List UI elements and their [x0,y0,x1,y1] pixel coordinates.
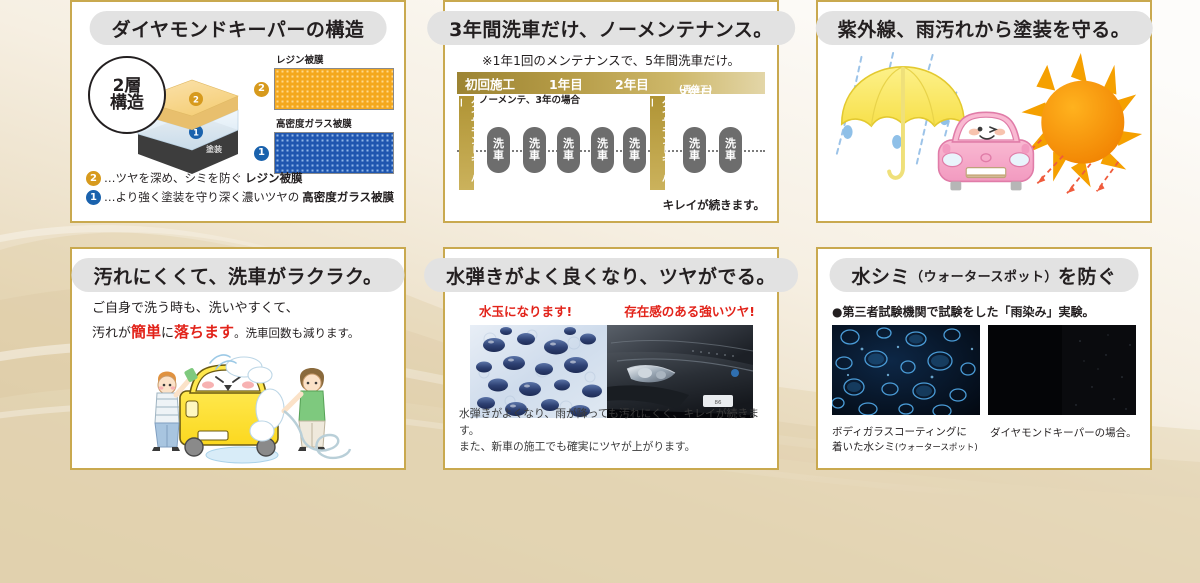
layer-diagram: 2層 構造 塗装 [86,54,246,179]
maintenance-subtitle: ※1年1回のメンテナンスで、5年間洗車だけ。 [445,50,777,69]
water-spot-photo-keeper [988,325,1136,415]
caption-keeper: ダイヤモンドキーパーの場合。 [990,426,1137,442]
water-repel-note-line-1: 水弾きがよくなり、雨が降っても汚れにくく、キレイが続きます。 [459,406,767,439]
water-repel-note: 水弾きがよくなり、雨が降っても汚れにくく、キレイが続きます。 また、新車の施工で… [459,406,767,456]
legend-bold-resin: レジン被膜 [245,169,303,188]
swatch-row-glass: 1 [254,132,400,174]
caption-coating-line-1: ボディガラスコーティングに [832,425,978,441]
photo-caption-beads: 水玉になります! [479,301,572,320]
wash-pill-3: 洗車 [557,127,580,173]
easy-wash-line-2: 汚れが簡単に落ちます。洗車回数も減ります。 [92,320,359,345]
highlight-kantan: 簡単 [131,323,161,341]
structure-legend: 2 …ツヤを深め、シミを防ぐ レジン被膜 1 …より強く塗装を守り深く濃いツヤの… [86,169,394,207]
wash-pill-1: 洗車 [487,127,510,173]
glossy-car-photo: 86 [607,325,753,418]
wash-pill-2: 洗車 [523,127,546,173]
pink-car-icon [939,112,1034,190]
swatch-number-1: 1 [254,146,269,161]
panel-title-easy-wash: 汚れにくくて、洗車がラクラク。 [71,258,404,292]
keeper-bar-reapply: ダイヤモンドキーパー [650,96,665,190]
svg-text:2: 2 [193,95,199,105]
panel-grid: ダイヤモンドキーパーの構造 2層 構造 塗 [70,0,1135,470]
timeline-header-1: 1年目 [549,74,583,93]
panel-title-structure: ダイヤモンドキーパーの構造 [90,11,387,45]
panel-title-protect: 紫外線、雨汚れから塗装を守る。 [816,11,1153,45]
swatch-glass [274,132,394,174]
legend-number-1: 1 [86,190,101,205]
water-spot-note: ●第三者試験機関で試験をした「雨染み」実験。 [832,303,1094,320]
timeline-body: ノーメンテ、3年の場合 ダイヤモンドキーパー ダイヤモンドキーパー 洗車 洗車 … [457,94,765,213]
panel-protect: 紫外線、雨汚れから塗装を守る。 [816,0,1152,223]
film-swatches: レジン被膜 2 高密度ガラス被膜 1 [254,52,400,180]
wash-pill-7: 洗車 [719,127,742,173]
wash-pill-6: 洗車 [683,127,706,173]
legend-row-resin: 2 …ツヤを深め、シミを防ぐ レジン被膜 [86,169,394,188]
caption-coating-line-2: 着いた水シミ(ウォータースポット) [832,440,978,456]
legend-number-2: 2 [86,171,101,186]
timeline-header-bar: 初回施工 1年目 2年目 3年目(再施工) [457,72,765,94]
panel-maintenance: 3年間洗車だけ、ノーメンテナンス。 ※1年1回のメンテナンスで、5年間洗車だけ。… [443,0,779,223]
keeper-bar-initial: ダイヤモンドキーパー [459,96,474,190]
caption-coating: ボディガラスコーティングに 着いた水シミ(ウォータースポット) [832,425,978,457]
car-washing-illustration [124,349,356,465]
paint-layer-label: 塗装 [206,144,222,154]
swatch-label-resin: レジン被膜 [276,52,400,66]
water-repel-note-line-2: また、新車の施工でも確実にツヤが上がります。 [459,439,767,456]
panel-water-repel: 水弾きがよく良くなり、ツヤがでる。 水玉になります! 存在感のある強いツヤ! [443,247,779,470]
panel-water-spot: 水シミ（ウォータースポット）を防ぐ ●第三者試験機関で試験をした「雨染み」実験。 [816,247,1152,470]
timeline-note-right: キレイが続きます。 [663,197,765,213]
easy-wash-line-1: ご自身で洗う時も、洗いやすくて、 [92,299,359,320]
highlight-ochimasu: 落ちます [174,323,234,341]
swatch-row-resin: 2 [254,68,400,110]
photo-caption-gloss: 存在感のある強いツヤ! [624,301,755,320]
wash-pill-4: 洗車 [591,127,614,173]
legend-bold-glass: 高密度ガラス被膜 [302,188,394,207]
panel-title-water-repel: 水弾きがよく良くなり、ツヤがでる。 [424,258,798,292]
timeline-header-0: 初回施工 [465,74,515,93]
swatch-number-2: 2 [254,82,269,97]
swatch-label-glass: 高密度ガラス被膜 [276,116,400,130]
panel-easy-wash: 汚れにくくて、洗車がラクラク。 ご自身で洗う時も、洗いやすくて、 汚れが簡単に落… [70,247,406,470]
legend-text-glass: …より強く塗装を守り深く濃いツヤの [104,188,299,207]
two-layer-badge: 2層 構造 [88,56,166,134]
protect-illustration [818,46,1150,224]
sun-icon [1022,53,1143,187]
panel-title-maintenance: 3年間洗車だけ、ノーメンテナンス。 [427,11,795,45]
legend-row-glass: 1 …より強く塗装を守り深く濃いツヤの 高密度ガラス被膜 [86,188,394,207]
water-spot-photo-coating [832,325,980,415]
swatch-resin [274,68,394,110]
badge-line-2: 構造 [110,95,144,112]
legend-text-resin: …ツヤを深め、シミを防ぐ [104,169,242,188]
timeline-note-left: ノーメンテ、3年の場合 [479,92,580,106]
water-beading-photo [470,325,607,418]
svg-text:1: 1 [193,128,199,138]
easy-wash-body: ご自身で洗う時も、洗いやすくて、 汚れが簡単に落ちます。洗車回数も減ります。 [92,299,359,345]
timeline-header-2: 2年目 [615,74,649,93]
panel-title-water-spot: 水シミ（ウォータースポット）を防ぐ [830,258,1139,292]
panel-structure: ダイヤモンドキーパーの構造 2層 構造 塗 [70,0,406,223]
